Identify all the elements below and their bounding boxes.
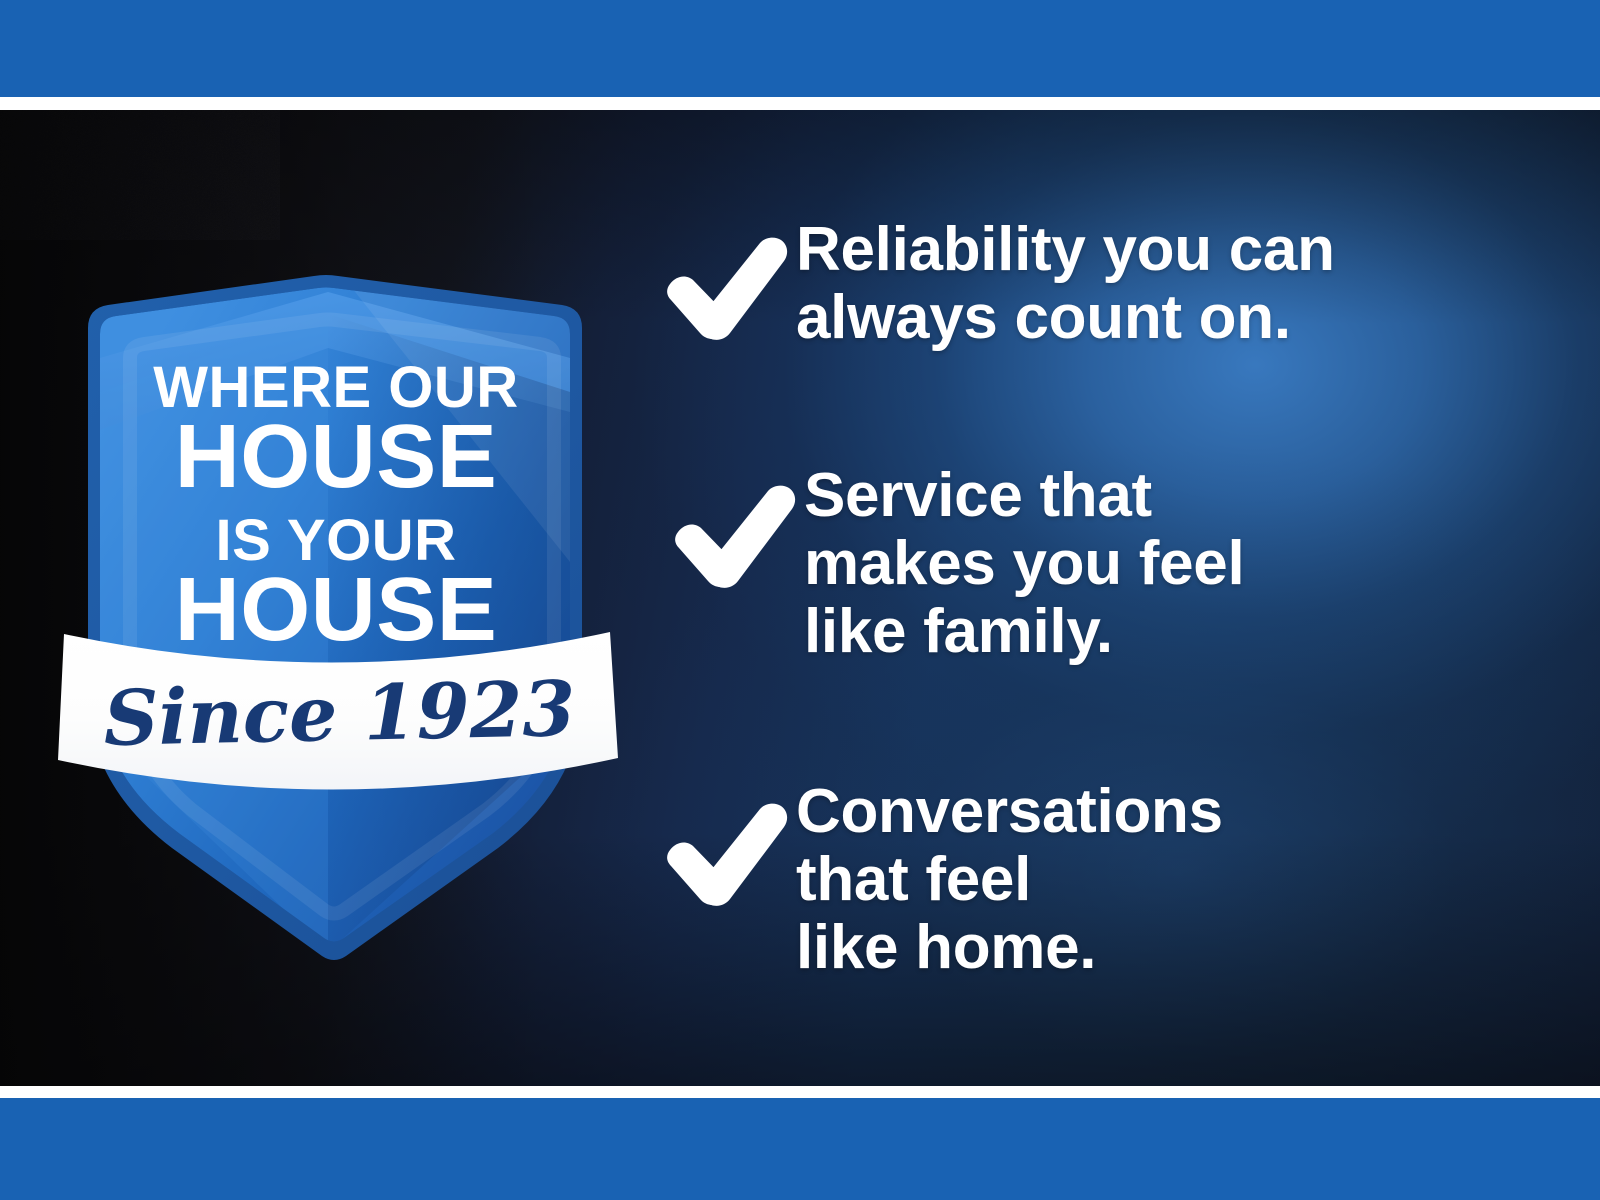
top-brand-bar (0, 0, 1600, 97)
top-separator (0, 97, 1600, 110)
benefits-list: Reliability you can always count on. Ser… (660, 110, 1540, 1086)
list-item-label: Conversations that feel like home. (796, 778, 1223, 983)
check-icon (660, 228, 792, 348)
list-item: Service that makes you feel like family. (668, 462, 1244, 667)
check-icon (668, 476, 800, 596)
list-item-label: Reliability you can always count on. (796, 216, 1335, 352)
emblem-line-2: HOUSE (175, 407, 498, 507)
promo-poster: WHERE OUR HOUSE IS YOUR HOUSE Since 1923… (0, 0, 1600, 1200)
bottom-brand-bar (0, 1098, 1600, 1200)
brand-emblem: WHERE OUR HOUSE IS YOUR HOUSE Since 1923 (52, 262, 632, 962)
bottom-separator (0, 1086, 1600, 1098)
check-icon (660, 794, 792, 914)
emblem-line-4: HOUSE (175, 560, 498, 660)
list-item: Reliability you can always count on. (660, 216, 1335, 352)
emblem-ribbon-text: Since 1923 (103, 664, 576, 763)
list-item-label: Service that makes you feel like family. (804, 462, 1244, 667)
list-item: Conversations that feel like home. (660, 778, 1223, 983)
noise-texture-fine (0, 110, 280, 240)
